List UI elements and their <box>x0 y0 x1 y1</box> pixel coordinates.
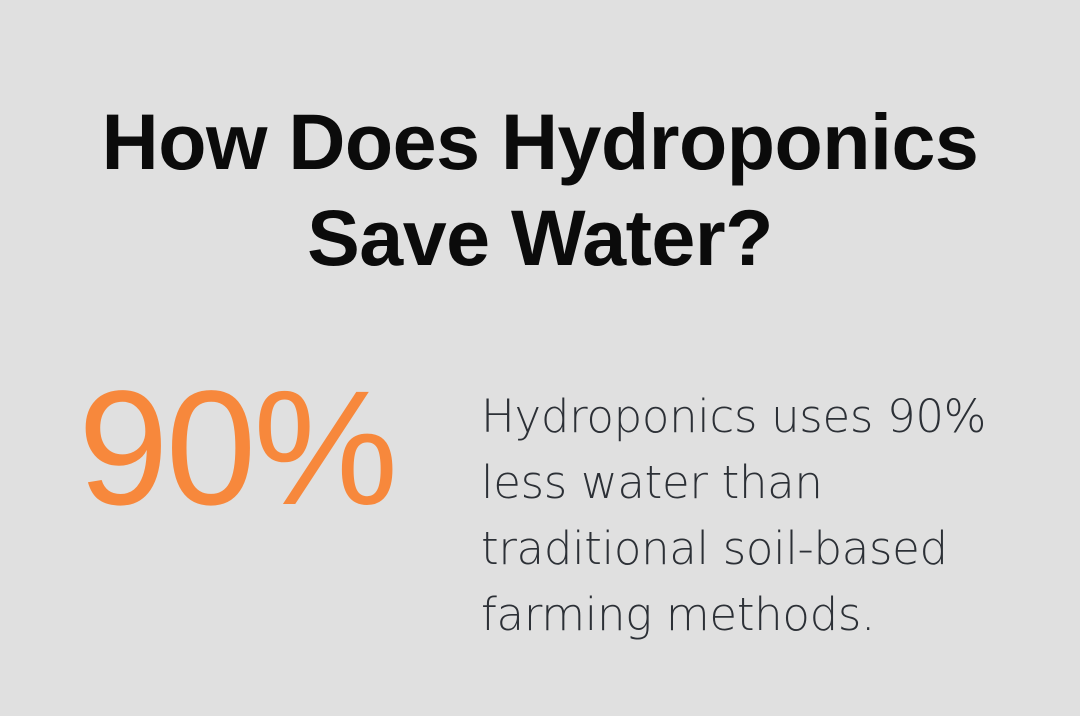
statistic-row: 90% Hydroponics uses 90% less water than… <box>0 366 1080 656</box>
infographic-card: How Does Hydroponics Save Water? 90% Hyd… <box>0 0 1080 716</box>
page-title: How Does Hydroponics Save Water? <box>0 94 1080 286</box>
statistic-value: 90% <box>78 366 418 529</box>
statistic-description: Hydroponics uses 90% less water than tra… <box>481 384 993 648</box>
